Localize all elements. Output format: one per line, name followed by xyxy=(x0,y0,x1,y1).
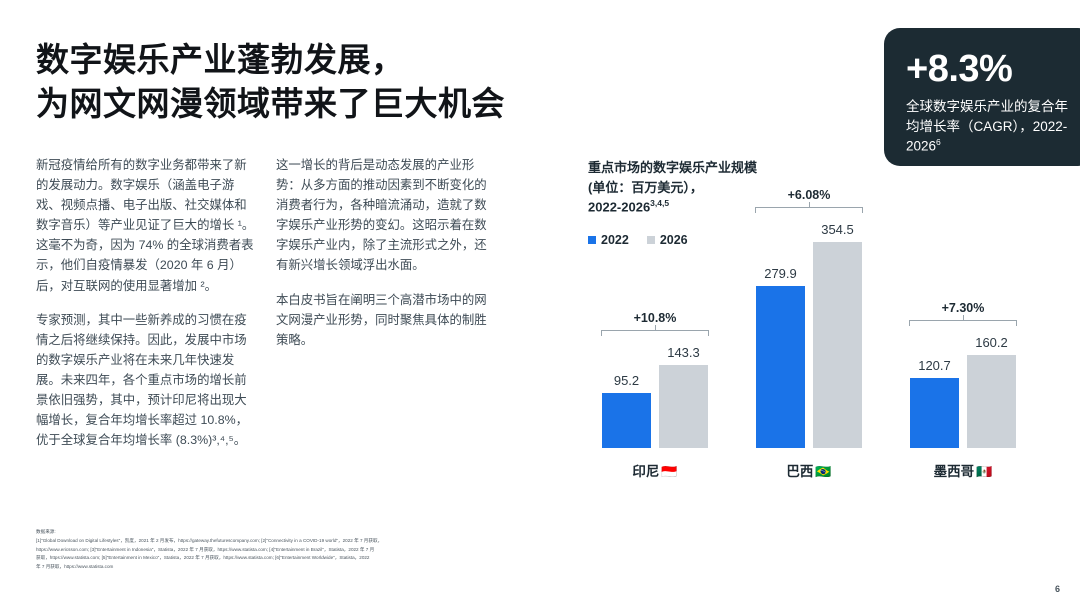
bar-value-label: 120.7 xyxy=(918,358,951,373)
cagr-annotation-mexico: +7.30% xyxy=(909,301,1017,329)
bar-2026-brazil: 354.5 xyxy=(813,242,862,448)
callout-footnote-marker: 6 xyxy=(936,137,941,147)
footnotes: 数据来源: [1]"Global Download on Digital Lif… xyxy=(36,528,596,571)
category-label-brazil: 巴西🇧🇷 xyxy=(786,460,831,480)
callout-description-text: 全球数字娱乐产业的复合年均增长率（CAGR），2022-2026 xyxy=(906,99,1068,154)
title-line-1: 数字娱乐产业蓬勃发展， xyxy=(36,38,656,82)
paragraph: 专家预测，其中一些新养成的习惯在疫情之后将继续保持。因此，发展中市场的数字娱乐产… xyxy=(36,310,258,451)
category-label-indonesia: 印尼🇮🇩 xyxy=(632,460,677,480)
cagr-label: +7.30% xyxy=(909,301,1017,315)
flag-mexico-icon: 🇲🇽 xyxy=(976,464,992,479)
cagr-callout: +8.3% 全球数字娱乐产业的复合年均增长率（CAGR），2022-20266 xyxy=(884,28,1080,166)
category-label-mexico: 墨西哥🇲🇽 xyxy=(934,460,993,480)
bar-2022-mexico: 120.7 xyxy=(910,378,959,448)
bar-chart: 重点市场的数字娱乐产业规模 (单位：百万美元）， 2022-20263,4,5 … xyxy=(588,158,1058,488)
bar-value-label: 160.2 xyxy=(975,335,1008,350)
title-line-2: 为网文网漫领域带来了巨大机会 xyxy=(36,82,656,126)
paragraph: 这一增长的背后是动态发展的产业形势：从多方面的推动因素到不断变化的消费者行为，各… xyxy=(276,155,498,276)
slide-page: 数字娱乐产业蓬勃发展， 为网文网漫领域带来了巨大机会 +8.3% 全球数字娱乐产… xyxy=(0,0,1080,608)
body-column-2: 这一增长的背后是动态发展的产业形势：从多方面的推动因素到不断变化的消费者行为，各… xyxy=(276,155,498,364)
flag-indonesia-icon: 🇮🇩 xyxy=(661,464,677,479)
bar-2022-brazil: 279.9 xyxy=(756,286,805,448)
cagr-label: +6.08% xyxy=(755,188,863,202)
footnotes-heading: 数据来源: xyxy=(36,528,596,536)
cagr-annotation-indonesia: +10.8% xyxy=(601,311,709,339)
page-number: 6 xyxy=(1055,584,1060,594)
cagr-annotation-brazil: +6.08% xyxy=(755,188,863,216)
flag-brazil-icon: 🇧🇷 xyxy=(815,464,831,479)
cagr-bracket-icon xyxy=(601,330,709,339)
bar-value-label: 354.5 xyxy=(821,222,854,237)
chart-plot-area: +10.8% 95.2 143.3 印尼🇮🇩 +6.08% xyxy=(588,158,1058,488)
footnote-line: [1]"Global Download on Digital Lifestyle… xyxy=(36,537,596,545)
callout-description: 全球数字娱乐产业的复合年均增长率（CAGR），2022-20266 xyxy=(906,97,1074,156)
paragraph: 本白皮书旨在阐明三个高潜市场中的网文网漫产业形势，同时聚焦具体的制胜策略。 xyxy=(276,290,498,350)
bar-value-label: 143.3 xyxy=(667,345,700,360)
bar-2026-mexico: 160.2 xyxy=(967,355,1016,448)
page-title: 数字娱乐产业蓬勃发展， 为网文网漫领域带来了巨大机会 xyxy=(36,38,656,125)
bar-2022-indonesia: 95.2 xyxy=(602,393,651,448)
footnote-line: 获取，https://www.statista.com; [5]"Enterta… xyxy=(36,554,596,562)
cagr-bracket-icon xyxy=(909,320,1017,329)
cagr-label: +10.8% xyxy=(601,311,709,325)
callout-value: +8.3% xyxy=(906,50,1074,88)
bar-value-label: 95.2 xyxy=(614,373,639,388)
footnote-line: 年 7 月获取，https://www.statista.com xyxy=(36,563,596,571)
paragraph: 新冠疫情给所有的数字业务都带来了新的发展动力。数字娱乐（涵盖电子游戏、视频点播、… xyxy=(36,155,258,296)
footnote-line: https://www.ericsson.com; [3]"Entertainm… xyxy=(36,546,596,554)
cagr-bracket-icon xyxy=(755,207,863,216)
bar-value-label: 279.9 xyxy=(764,266,797,281)
bar-2026-indonesia: 143.3 xyxy=(659,365,708,448)
body-column-1: 新冠疫情给所有的数字业务都带来了新的发展动力。数字娱乐（涵盖电子游戏、视频点播、… xyxy=(36,155,258,464)
